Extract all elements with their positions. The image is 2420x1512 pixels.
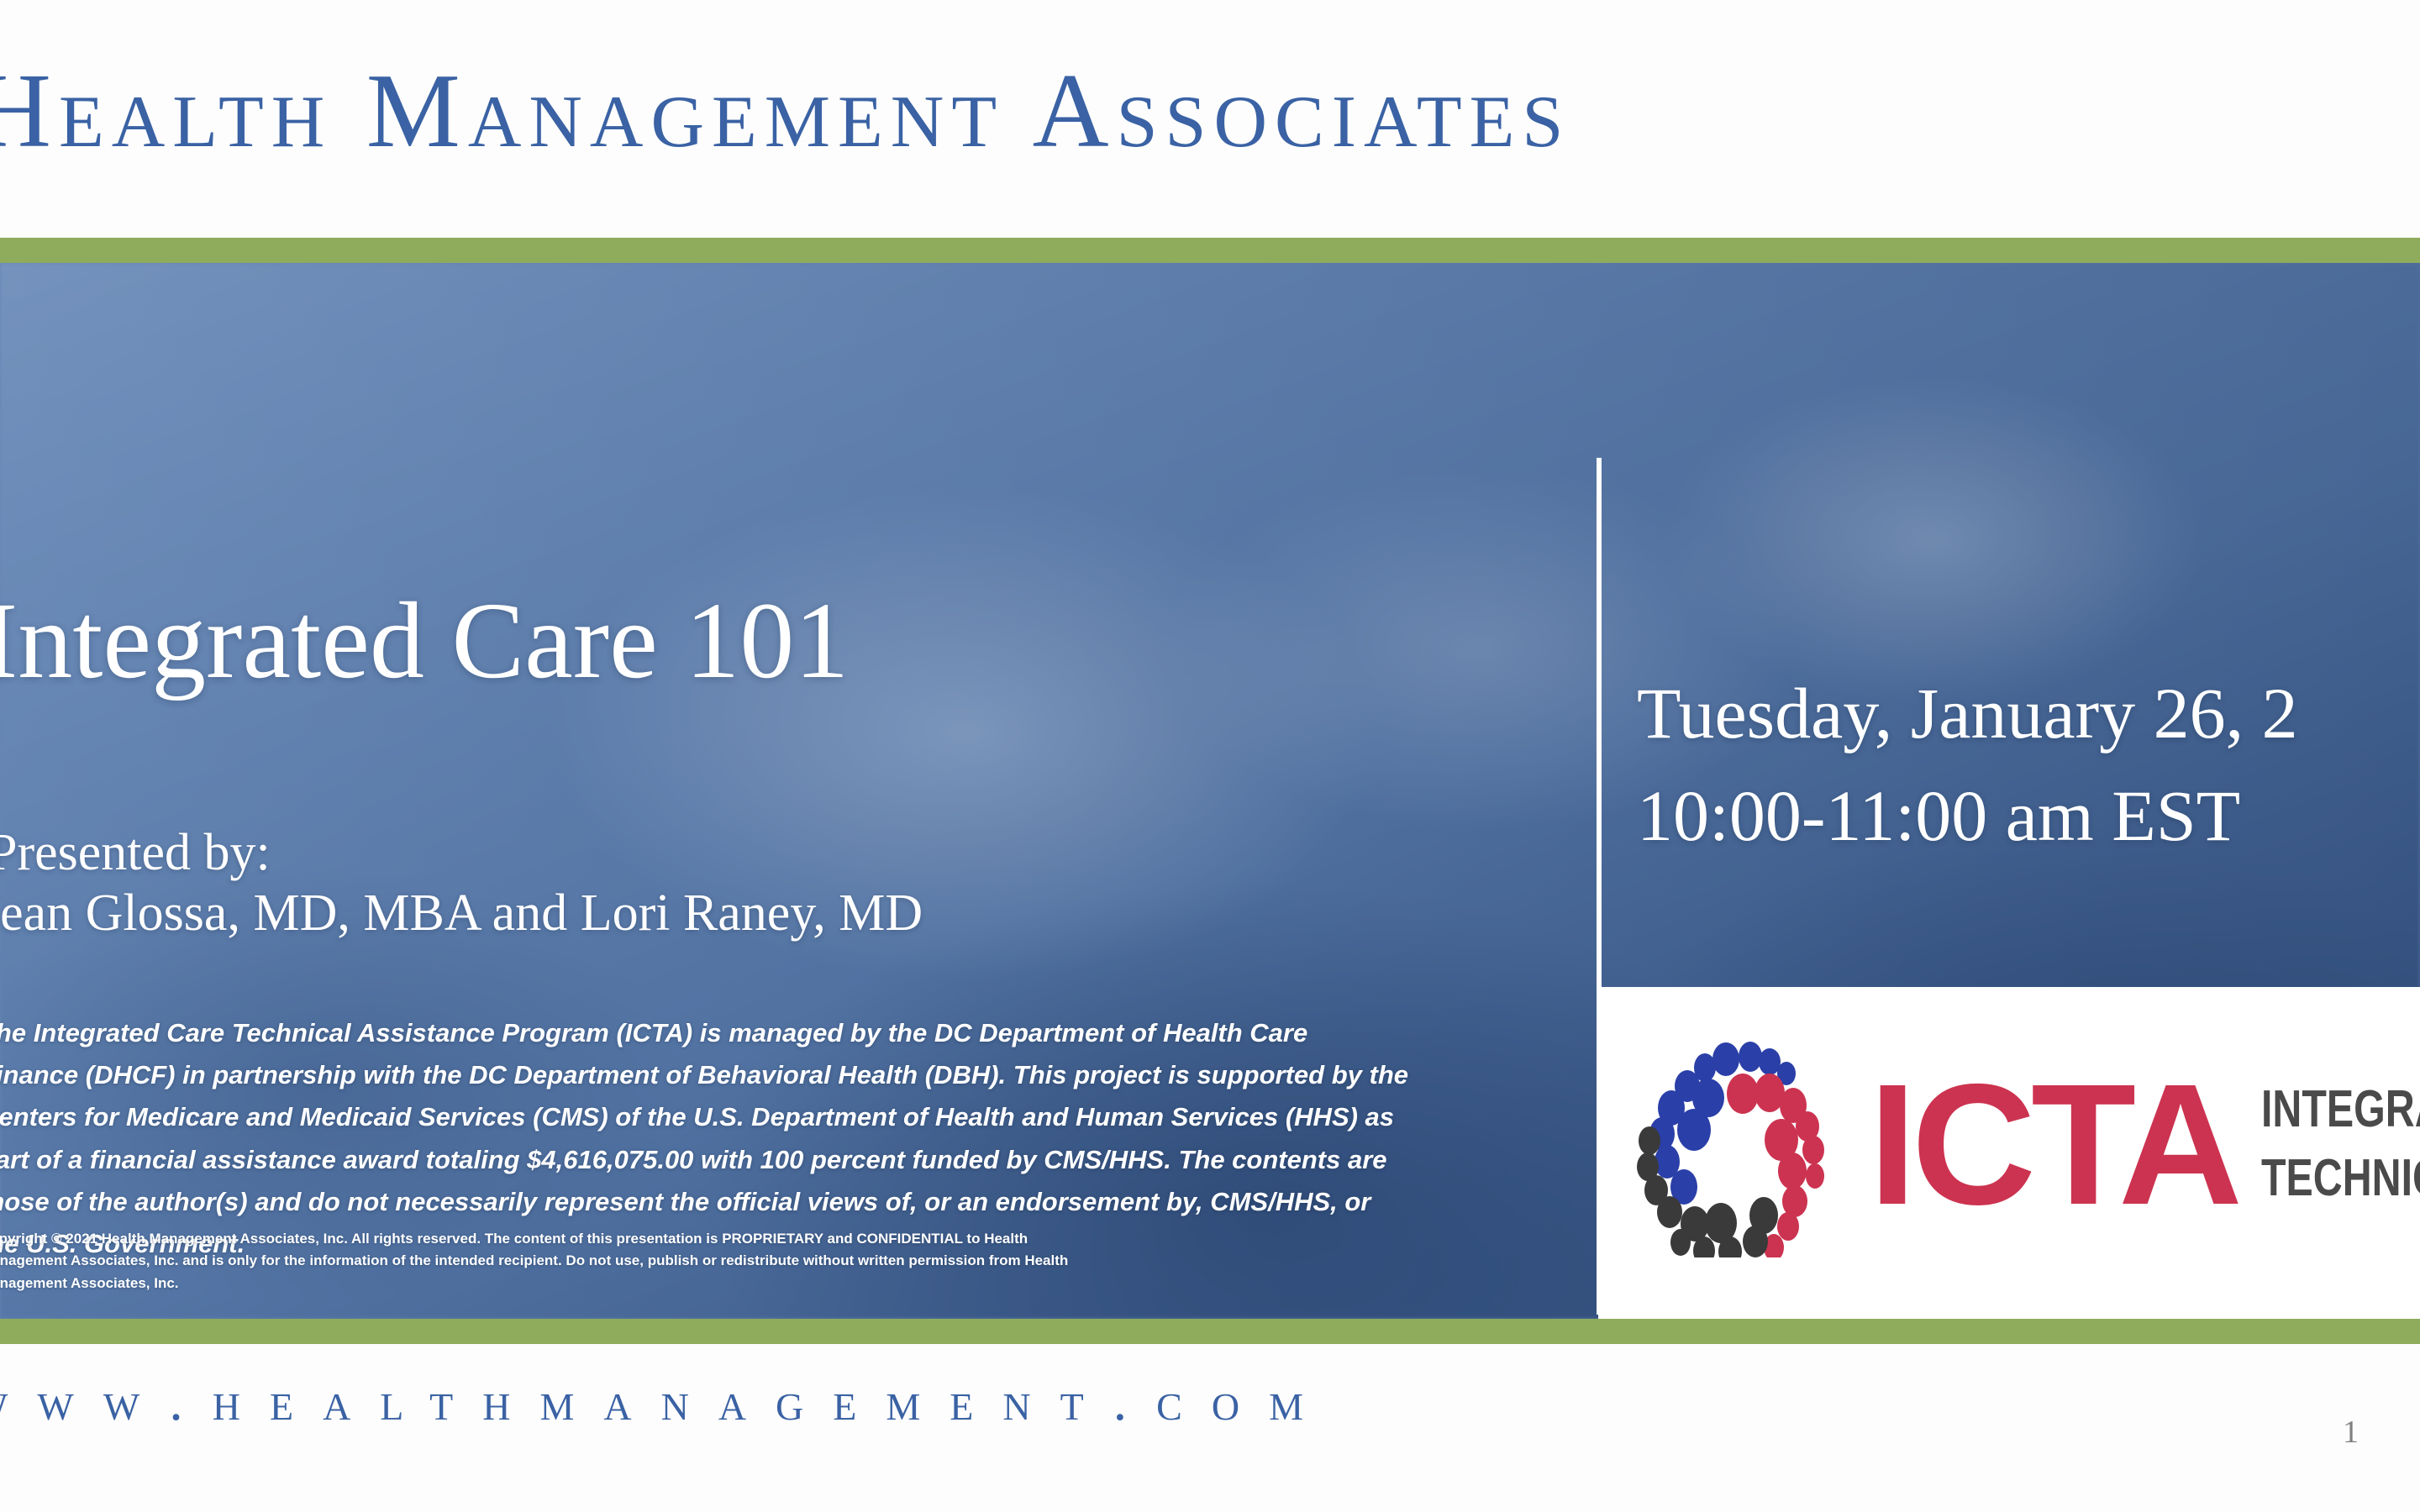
icta-acronym-text: ICTA [1869,1058,2238,1231]
slide-page-number: 1 [2343,1416,2359,1448]
green-divider-bottom [0,1319,2420,1344]
copyright-notice: Copyright © 2021 Health Management Assoc… [0,1228,1089,1294]
slide-header-band: Health Management Associates [0,0,2420,238]
slide-footer-band: www.healthmanagement.com [0,1344,2420,1512]
icta-tagline-line-1: INTEGRATED CARE [2261,1075,2420,1144]
event-date: Tuesday, January 26, 2 [1637,664,2298,764]
presentation-slide: Health Management Associates Integrated … [0,0,2420,1512]
icta-logo-panel: ICTA INTEGRATED CARE TECHNICAL ASSISTANC… [1598,987,2420,1319]
green-divider-top [0,238,2420,263]
icta-logo-lockup: ICTA INTEGRATED CARE TECHNICAL ASSISTANC… [1627,1031,2420,1257]
presenter-names: Jean Glossa, MD, MBA and Lori Raney, MD [0,884,923,943]
hma-brand-wordmark: Health Management Associates [0,59,2420,165]
slide-title: Integrated Care 101 [0,584,849,699]
event-time: 10:00-11:00 am EST [1637,766,2240,866]
presented-by-label: Presented by: [0,823,271,883]
icta-tagline-line-2: TECHNICAL ASSISTANCE [2261,1144,2420,1213]
icta-circle-dots-icon [1627,1031,1845,1257]
icta-tagline: INTEGRATED CARE TECHNICAL ASSISTANCE [2261,1075,2420,1213]
footer-website-url: www.healthmanagement.com [0,1374,2420,1430]
